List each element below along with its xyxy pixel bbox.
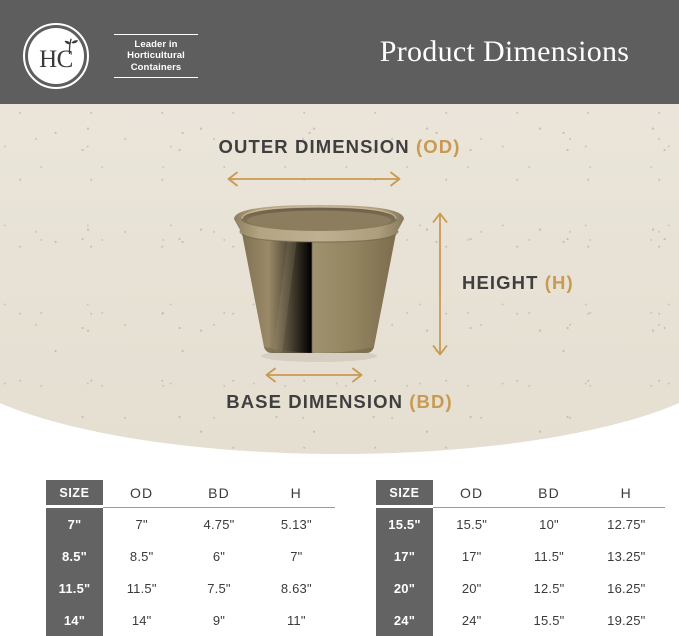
table-row-size: 17": [376, 540, 433, 572]
sprout-icon: [59, 38, 81, 54]
cell-h: 7": [258, 549, 335, 564]
hc-logo-icon: HC: [22, 22, 90, 90]
base-dimension-arrow-icon: [262, 366, 366, 384]
height-label: HEIGHT (H): [462, 272, 574, 294]
product-dimensions-infographic: HC Leader in Horticultural Containers Pr…: [0, 0, 679, 636]
cell-bd: 4.75": [180, 517, 257, 532]
cell-od: 7": [103, 517, 180, 532]
size-column-cells: 7" 8.5" 11.5" 14": [46, 508, 103, 636]
table-header-row: OD BD H: [103, 480, 335, 505]
cell-h: 11": [258, 613, 335, 628]
height-label-text: HEIGHT: [462, 272, 545, 293]
table-row: 11.5" 7.5" 8.63": [103, 572, 335, 604]
column-header-h: H: [588, 485, 665, 501]
table-row: 8.5" 6" 7": [103, 540, 335, 572]
table-row: 17" 11.5" 13.25": [433, 540, 665, 572]
cell-bd: 10": [510, 517, 587, 532]
cell-od: 17": [433, 549, 510, 564]
outer-dimension-label: OUTER DIMENSION (OD): [0, 136, 679, 158]
cell-od: 8.5": [103, 549, 180, 564]
column-header-od: OD: [433, 485, 510, 501]
column-header-bd: BD: [510, 485, 587, 501]
cell-h: 13.25": [588, 549, 665, 564]
table-header-row: OD BD H: [433, 480, 665, 505]
cell-bd: 11.5": [510, 549, 587, 564]
table-row-size: 24": [376, 604, 433, 636]
tagline-line-1: Leader in: [114, 39, 198, 51]
cell-bd: 15.5": [510, 613, 587, 628]
table-row-size: 14": [46, 604, 103, 636]
column-header-h: H: [258, 485, 335, 501]
table-row-size: 20": [376, 572, 433, 604]
size-column-header: SIZE: [376, 480, 433, 505]
tagline-line-2: Horticultural: [114, 50, 198, 62]
table-row-size: 11.5": [46, 572, 103, 604]
table-row: 7" 4.75" 5.13": [103, 508, 335, 540]
cell-h: 16.25": [588, 581, 665, 596]
table-row-size: 15.5": [376, 508, 433, 540]
base-dimension-label-code: (BD): [409, 391, 452, 412]
outer-dimension-arrow-icon: [224, 170, 404, 188]
brand-tagline: Leader in Horticultural Containers: [102, 34, 198, 79]
size-table-left: SIZE 7" 8.5" 11.5" 14" OD BD H 7" 4.75" …: [46, 480, 335, 636]
base-dimension-label-text: BASE DIMENSION: [226, 391, 409, 412]
column-header-bd: BD: [180, 485, 257, 501]
height-arrow-icon: [430, 209, 450, 359]
cell-bd: 7.5": [180, 581, 257, 596]
header-bar: HC Leader in Horticultural Containers Pr…: [0, 0, 679, 104]
tagline-line-3: Containers: [114, 62, 198, 74]
size-column-cells: 15.5" 17" 20" 24": [376, 508, 433, 636]
table-row-size: 8.5": [46, 540, 103, 572]
outer-dimension-label-text: OUTER DIMENSION: [219, 136, 416, 157]
cell-bd: 9": [180, 613, 257, 628]
cell-od: 24": [433, 613, 510, 628]
table-row: 20" 12.5" 16.25": [433, 572, 665, 604]
measurements-grid: OD BD H 7" 4.75" 5.13" 8.5" 6" 7" 11.5" …: [103, 480, 335, 636]
brand-logo: HC Leader in Horticultural Containers: [22, 20, 192, 92]
cell-od: 15.5": [433, 517, 510, 532]
cell-od: 11.5": [103, 581, 180, 596]
page-title: Product Dimensions: [330, 0, 679, 104]
tagline-rule-bottom: [114, 77, 198, 78]
logo-monogram: HC: [22, 22, 90, 90]
cell-od: 20": [433, 581, 510, 596]
table-row: 15.5" 10" 12.75": [433, 508, 665, 540]
measurements-grid: OD BD H 15.5" 10" 12.75" 17" 11.5" 13.25…: [433, 480, 665, 636]
size-table-right: SIZE 15.5" 17" 20" 24" OD BD H 15.5" 10"…: [376, 480, 665, 636]
column-header-od: OD: [103, 485, 180, 501]
table-row: 14" 9" 11": [103, 604, 335, 636]
cell-h: 19.25": [588, 613, 665, 628]
base-dimension-label: BASE DIMENSION (BD): [0, 391, 679, 413]
cell-bd: 12.5": [510, 581, 587, 596]
cell-od: 14": [103, 613, 180, 628]
planter-pot-illustration: [226, 197, 412, 363]
cell-h: 8.63": [258, 581, 335, 596]
table-row-size: 7": [46, 508, 103, 540]
table-row: 24" 15.5" 19.25": [433, 604, 665, 636]
cell-bd: 6": [180, 549, 257, 564]
height-label-code: (H): [545, 272, 574, 293]
outer-dimension-label-code: (OD): [416, 136, 460, 157]
cell-h: 12.75": [588, 517, 665, 532]
size-column-header: SIZE: [46, 480, 103, 505]
cell-h: 5.13": [258, 517, 335, 532]
